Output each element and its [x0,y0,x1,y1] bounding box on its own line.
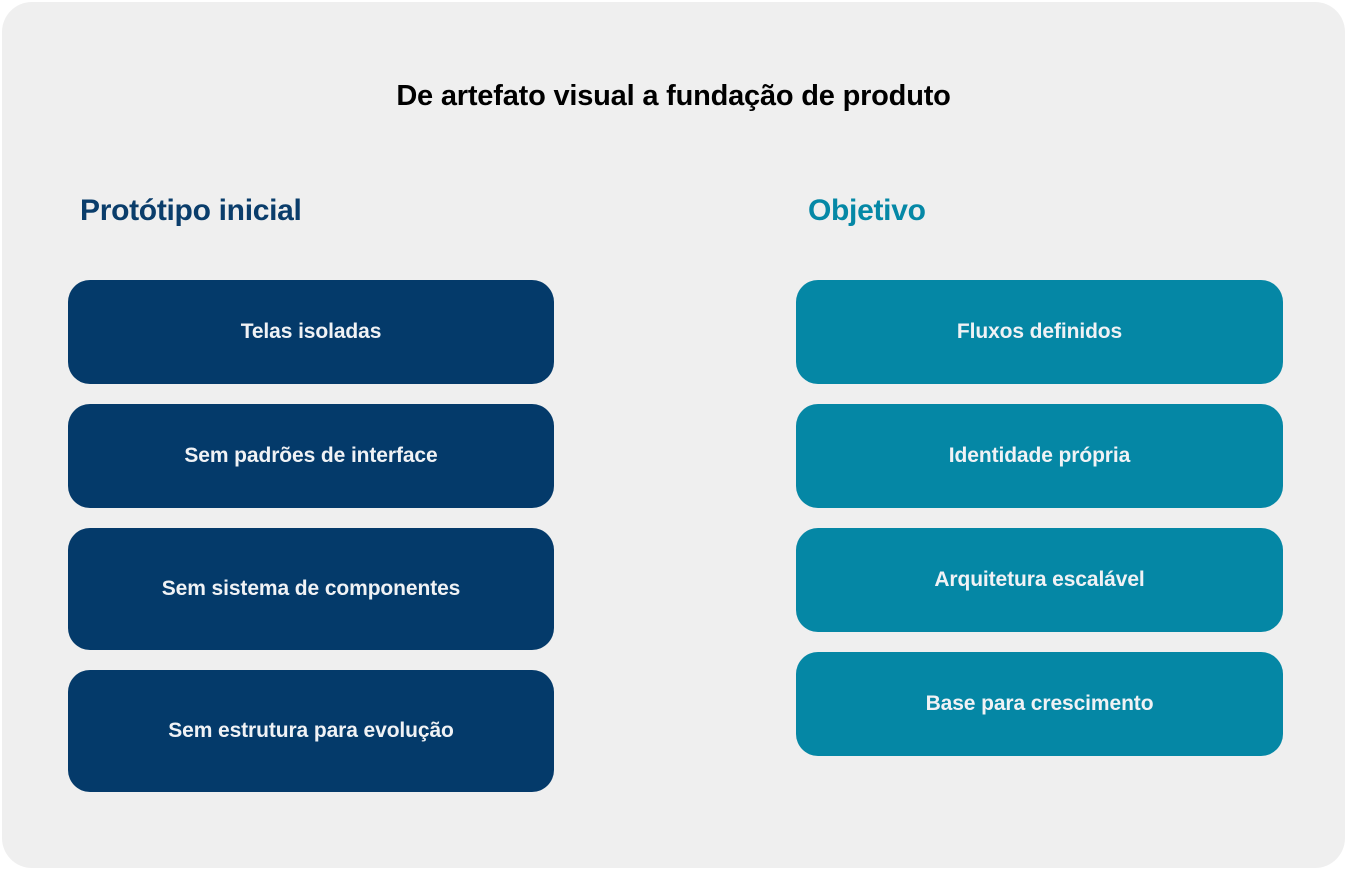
column-heading-prototipo-inicial: Protótipo inicial [80,192,558,230]
list-item: Base para crescimento [796,652,1283,756]
list-item: Telas isoladas [68,280,554,384]
card-stack-prototipo-inicial: Telas isoladas Sem padrões de interface … [68,280,554,792]
list-item: Sem sistema de componentes [68,528,554,650]
column-heading-objetivo: Objetivo [808,192,1287,230]
column-prototipo-inicial: Protótipo inicial Telas isoladas Sem pad… [68,192,558,230]
list-item: Sem estrutura para evolução [68,670,554,792]
card-stack-objetivo: Fluxos definidos Identidade própria Arqu… [796,280,1283,756]
list-item: Fluxos definidos [796,280,1283,384]
list-item: Arquitetura escalável [796,528,1283,632]
list-item: Identidade própria [796,404,1283,508]
column-objetivo: Objetivo Fluxos definidos Identidade pró… [796,192,1287,230]
slide-panel: De artefato visual a fundação de produto… [2,2,1345,868]
list-item: Sem padrões de interface [68,404,554,508]
slide-canvas: De artefato visual a fundação de produto… [0,0,1347,870]
page-title: De artefato visual a fundação de produto [2,80,1345,113]
